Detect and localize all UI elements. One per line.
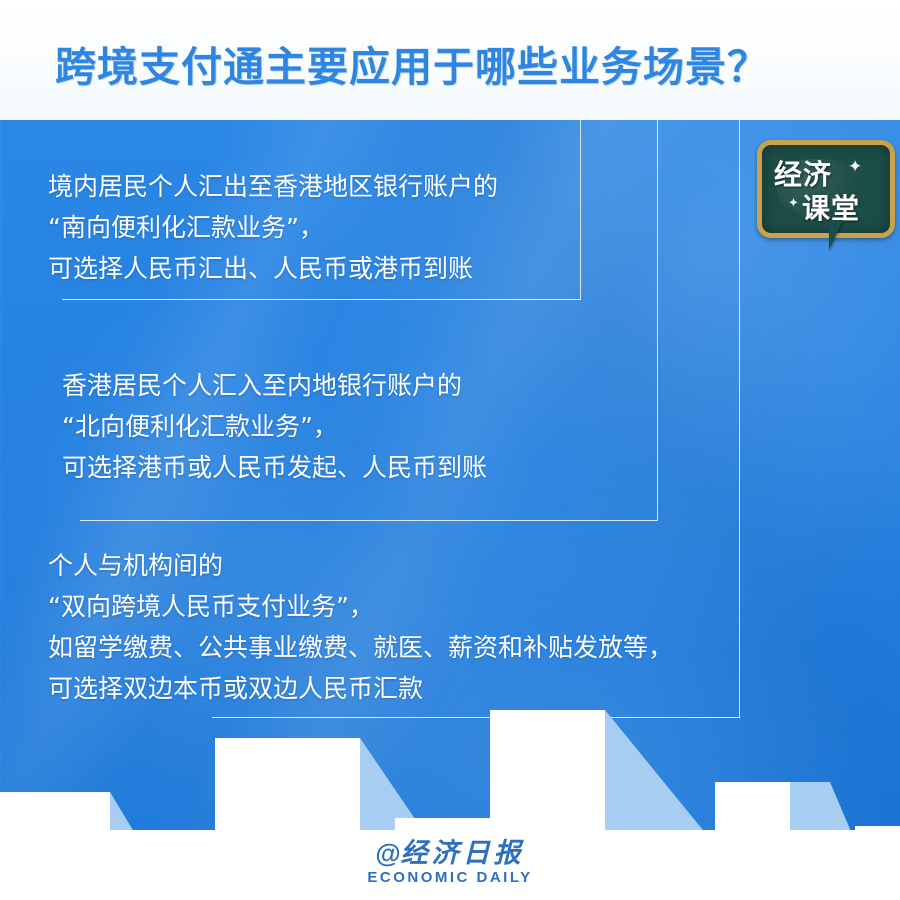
scenario-2-line-2: “北向便利化汇款业务”， [62, 406, 487, 447]
scenario-2-line-1: 香港居民个人汇入至内地银行账户的 [62, 365, 487, 406]
scenario-3-line-3: 如留学缴费、公共事业缴费、就医、薪资和补贴发放等， [48, 627, 673, 668]
scenario-1-line-1: 境内居民个人汇出至香港地区银行账户的 [48, 166, 498, 207]
scenario-2-line-3: 可选择港币或人民币发起、人民币到账 [62, 447, 487, 488]
badge-sparkle-icon-2: ✦ [788, 195, 799, 211]
page-title: 跨境支付通主要应用于哪些业务场景？ [55, 33, 769, 93]
at-symbol-icon: @ [375, 838, 400, 868]
poster-root: 跨境支付通主要应用于哪些业务场景？ 境内居民个人汇出至香港地区银行账户的 “南向… [0, 0, 900, 900]
bracket-2-vertical-line [657, 120, 658, 521]
logo-chinese-row: @经济日报 [367, 838, 532, 869]
bracket-1-vertical-line [580, 120, 581, 300]
header-bar: 跨境支付通主要应用于哪些业务场景？ [0, 0, 900, 120]
scenario-3-line-2: “双向跨境人民币支付业务”， [48, 586, 673, 627]
scenario-block-1: 境内居民个人汇出至香港地区银行账户的 “南向便利化汇款业务”， 可选择人民币汇出… [48, 166, 498, 289]
bracket-2-horizontal-line [80, 520, 658, 521]
scenario-1-line-2: “南向便利化汇款业务”， [48, 207, 498, 248]
badge-bubble: 经济 课堂 ✦ ✦ [757, 140, 895, 238]
badge-sparkle-icon-1: ✦ [848, 157, 862, 177]
bracket-3-vertical-line [739, 120, 740, 718]
scenario-1-line-3: 可选择人民币汇出、人民币或港币到账 [48, 248, 498, 289]
logo-brand-cn: 经济日报 [401, 838, 525, 869]
logo-brand-en: ECONOMIC DAILY [367, 869, 532, 887]
badge-tail [829, 220, 852, 250]
scenario-block-2: 香港居民个人汇入至内地银行账户的 “北向便利化汇款业务”， 可选择港币或人民币发… [62, 365, 487, 488]
economics-classroom-badge: 经济 课堂 ✦ ✦ [757, 140, 885, 250]
economic-daily-logo: @经济日报 ECONOMIC DAILY [367, 838, 532, 887]
scenario-block-3: 个人与机构间的 “双向跨境人民币支付业务”， 如留学缴费、公共事业缴费、就医、薪… [48, 545, 673, 709]
scenario-3-line-1: 个人与机构间的 [48, 545, 673, 586]
footer-bar: @经济日报 ECONOMIC DAILY [0, 830, 900, 900]
bracket-1-horizontal-line [62, 299, 581, 300]
